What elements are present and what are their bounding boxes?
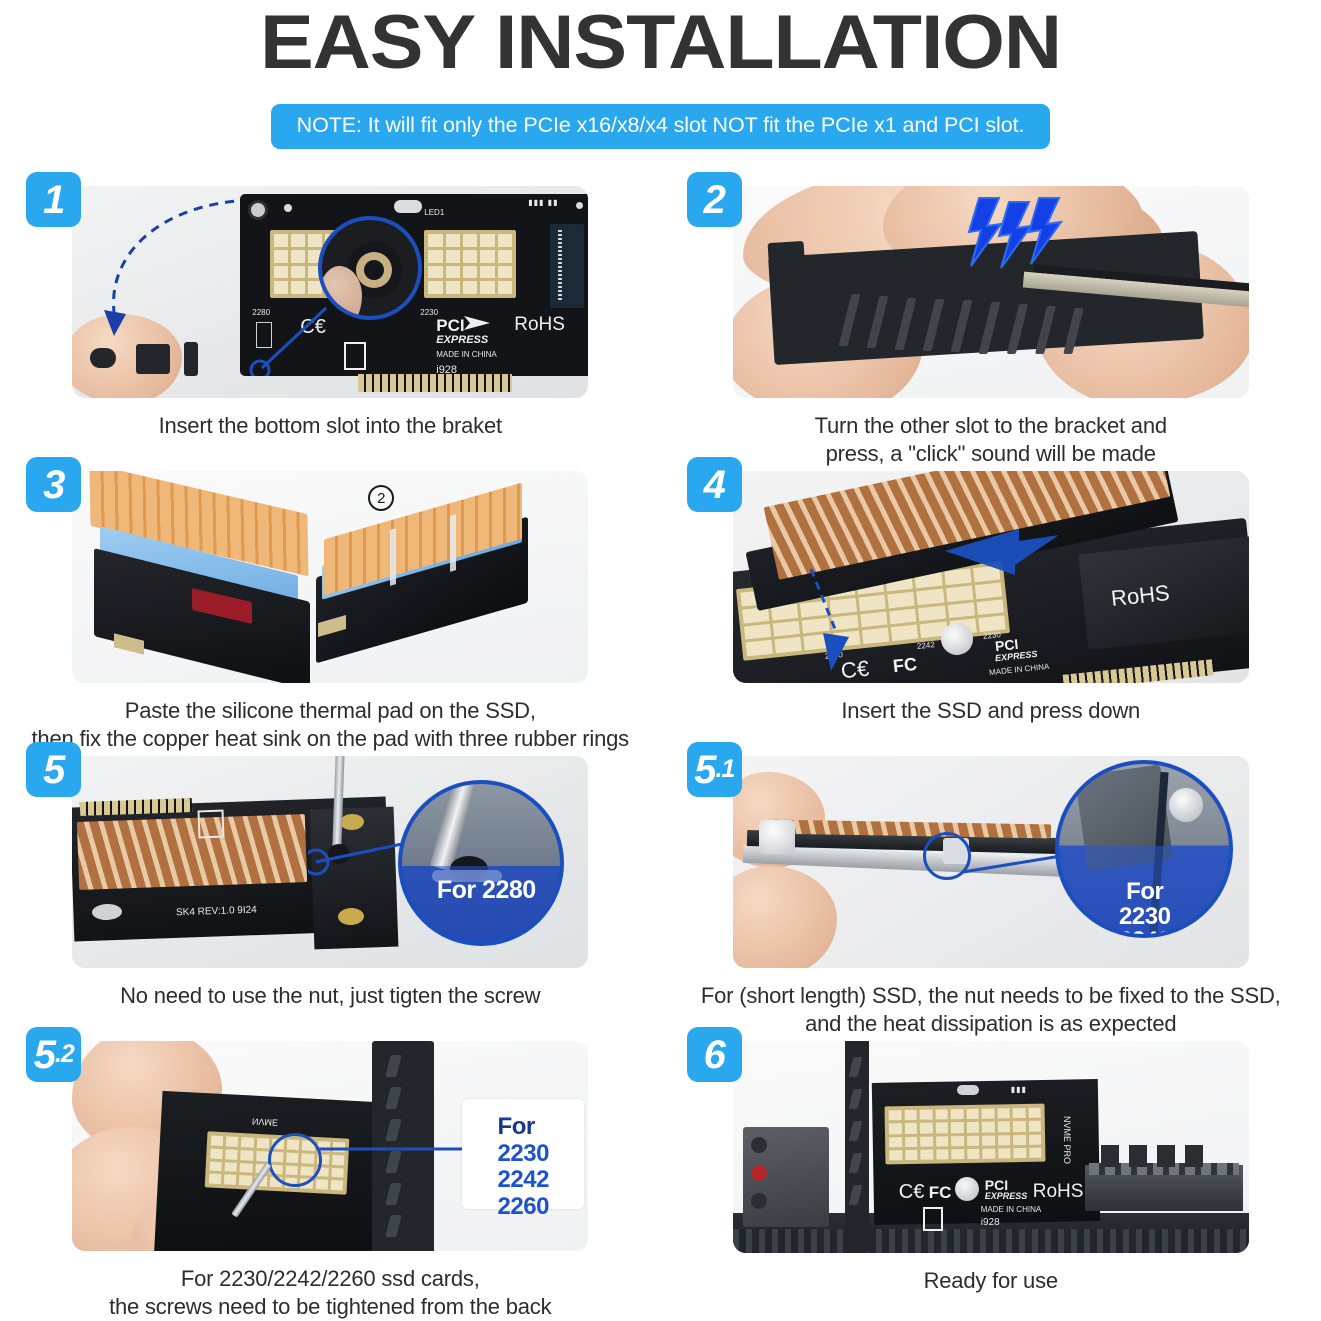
magnifier-2280: For 2280: [398, 780, 564, 946]
step-5-1-caption: For (short length) SSD, the nut needs to…: [701, 982, 1281, 1038]
step-4-badge-number: 4: [704, 465, 725, 505]
click-lightning-icon: [967, 196, 1067, 270]
step-2-badge: 2: [687, 172, 742, 227]
magnifier-2280-label: For 2280: [420, 878, 552, 904]
steps-grid: 1 LED1 ▮▮▮ ▮▮: [0, 186, 1321, 1321]
step-4: 4 SK4 REV:1.0 9I24 2280 2242 2230 C€ FC: [661, 471, 1321, 756]
step-5-1-photo-wrap: 5.1 For: [733, 756, 1249, 968]
step-2-photo-wrap: 2: [733, 186, 1249, 398]
step-5-2: 5.2 NVME: [0, 1041, 661, 1321]
step-5-caption: No need to use the nut, just tigten the …: [120, 982, 540, 1010]
press-arrow-icon: [941, 521, 1071, 591]
step-3-badge: 3: [26, 457, 81, 512]
callout-2230-2242-2260: For 2230 2242 2260: [462, 1099, 584, 1209]
step-5-2-photo: NVME: [72, 1041, 588, 1251]
step-3-caption: Paste the silicone thermal pad on the SS…: [32, 697, 629, 753]
magnifier-2230-label: For 2230 2242 2260: [1065, 856, 1225, 938]
step-5-1-badge-number: 5: [694, 750, 715, 790]
step-5-1: 5.1 For: [661, 756, 1321, 1041]
curved-arrow-icon: [90, 194, 260, 354]
step-4-badge: 4: [687, 457, 742, 512]
step-5-2-badge-suffix: .2: [55, 1042, 74, 1067]
step-1-badge: 1: [26, 172, 81, 227]
magnifier-2230-2242-2260: For 2230 2242 2260: [1055, 760, 1233, 938]
step-1-photo-wrap: 1 LED1 ▮▮▮ ▮▮: [72, 186, 588, 398]
step-5-1-badge-suffix: .1: [715, 757, 734, 782]
step-5: 5 SK4 REV:1.0 9I24: [0, 756, 661, 1041]
step-5-2-photo-wrap: 5.2 NVME: [72, 1041, 588, 1251]
step-1-badge-number: 1: [43, 180, 64, 220]
step-4-photo-wrap: 4 SK4 REV:1.0 9I24 2280 2242 2230 C€ FC: [733, 471, 1249, 683]
step-1: 1 LED1 ▮▮▮ ▮▮: [0, 186, 661, 471]
note-banner: NOTE: It will fit only the PCIe x16/x8/x…: [271, 104, 1051, 149]
step-5-badge-number: 5: [43, 750, 64, 790]
step-5-2-badge: 5.2: [26, 1027, 81, 1082]
step-6-caption: Ready for use: [924, 1267, 1058, 1295]
step-3-photo-wrap: 3 1 2: [72, 471, 588, 683]
step-5-badge: 5: [26, 742, 81, 797]
step-5-1-badge: 5.1: [687, 742, 742, 797]
step-5-2-badge-number: 5: [34, 1035, 55, 1075]
insert-arrow-icon: [805, 567, 861, 677]
step-2-badge-number: 2: [704, 180, 725, 220]
step-4-caption: Insert the SSD and press down: [841, 697, 1140, 725]
step-2-photo: [733, 186, 1249, 398]
step-5-2-caption: For 2230/2242/2260 ssd cards, the screws…: [109, 1265, 551, 1321]
header: EASY INSTALLATION NOTE: It will fit only…: [0, 0, 1321, 149]
step-6-badge: 6: [687, 1027, 742, 1082]
step-6-photo-wrap: 6: [733, 1041, 1249, 1253]
step-6-photo: ▮▮▮ NVME PRO C€ FC PCI EXPRESS MADE IN C…: [733, 1041, 1249, 1253]
page-title: EASY INSTALLATION: [0, 2, 1321, 84]
step-2-caption: Turn the other slot to the bracket and p…: [815, 412, 1167, 468]
step-5-photo-wrap: 5 SK4 REV:1.0 9I24: [72, 756, 588, 968]
note-banner-wrap: NOTE: It will fit only the PCIe x16/x8/x…: [0, 104, 1321, 149]
step-3: 3 1 2: [0, 471, 661, 756]
step-3-badge-number: 3: [43, 465, 64, 505]
step-3-photo: 1 2: [72, 471, 588, 683]
step-5-photo: SK4 REV:1.0 9I24 For 2280: [72, 756, 588, 968]
step-6-badge-number: 6: [704, 1035, 725, 1075]
step-1-photo: LED1 ▮▮▮ ▮▮ 2280 2230 C€ PCI EXPRESS: [72, 186, 588, 398]
step-1-caption: Insert the bottom slot into the braket: [159, 412, 502, 440]
step-4-photo: SK4 REV:1.0 9I24 2280 2242 2230 C€ FC PC…: [733, 471, 1249, 683]
step-6: 6: [661, 1041, 1321, 1321]
step-2: 2: [661, 186, 1321, 471]
step-5-1-photo: For 2230 2242 2260: [733, 756, 1249, 968]
